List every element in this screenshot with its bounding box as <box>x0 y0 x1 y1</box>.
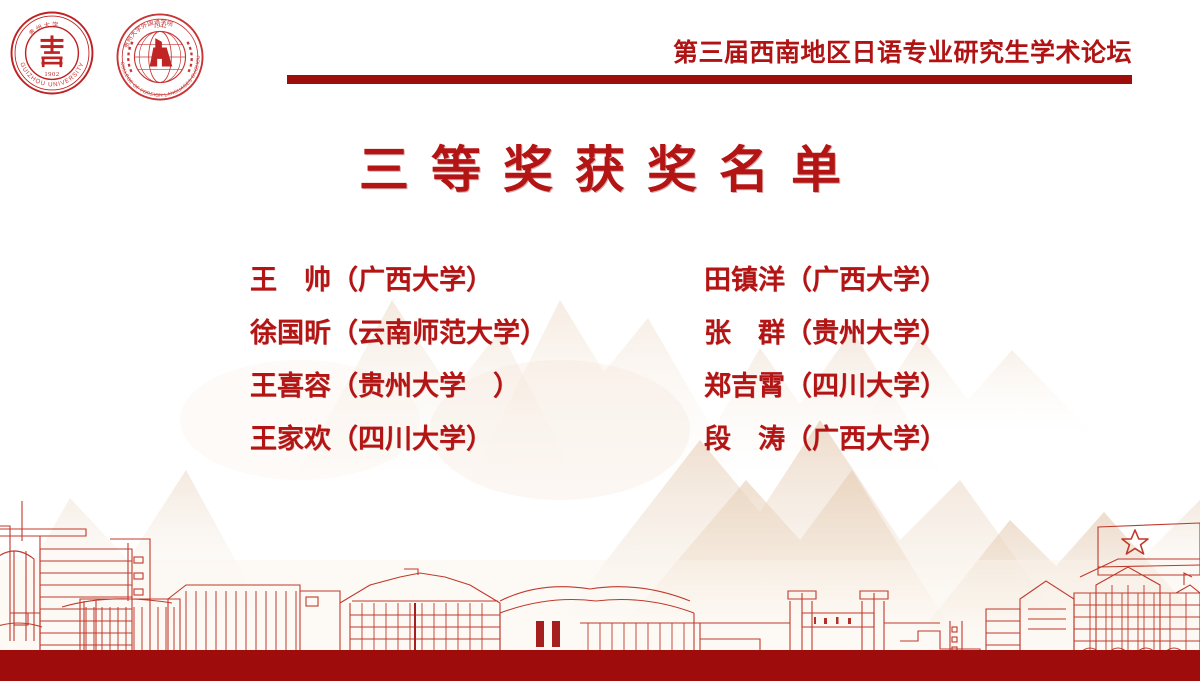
winner-name-left: 王家欢（四川大学） <box>250 419 493 459</box>
svg-text:1902: 1902 <box>44 71 59 78</box>
winner-row: 王家欢（四川大学） 段 涛（广西大学） <box>0 419 1200 472</box>
winners-list: 王 帅（广西大学） 田镇洋（广西大学） 徐国昕（云南师范大学） 张 群（贵州大学… <box>0 260 1200 472</box>
college-of-foreign-languages-logo-icon: 1942 贵州大学外国语学院 COLLEGE OF FOREIGN LANGUA… <box>108 9 212 105</box>
winner-name-right: 段 涛（广西大学） <box>704 419 947 459</box>
slide-third-prize-winners: 1902 贵 州 大 学 GUIZHOU UNIVERSITY <box>0 0 1200 681</box>
svg-text:贵 州 大 学: 贵 州 大 学 <box>27 20 58 37</box>
winner-name-right: 郑吉霄（四川大学） <box>704 366 947 406</box>
winner-name-left: 王 帅（广西大学） <box>250 260 493 300</box>
winner-row: 王喜容（贵州大学 ） 郑吉霄（四川大学） <box>0 366 1200 419</box>
winner-name-right: 张 群（贵州大学） <box>704 313 947 353</box>
star-icon <box>1122 530 1148 554</box>
winner-name-left: 王喜容（贵州大学 ） <box>250 366 520 406</box>
winner-name-right: 田镇洋（广西大学） <box>704 260 947 300</box>
page-title: 三等奖获奖名单 <box>0 140 1200 200</box>
footer-red-bar <box>0 650 1200 681</box>
guizhou-university-logo-icon: 1902 贵 州 大 学 GUIZHOU UNIVERSITY <box>8 9 96 97</box>
slide-header: 1902 贵 州 大 学 GUIZHOU UNIVERSITY <box>0 0 1200 110</box>
header-divider-bar <box>287 75 1132 84</box>
winner-row: 徐国昕（云南师范大学） 张 群（贵州大学） <box>0 313 1200 366</box>
winner-name-left: 徐国昕（云南师范大学） <box>250 313 547 353</box>
conference-title: 第三届西南地区日语专业研究生学术论坛 <box>560 39 1132 69</box>
winner-row: 王 帅（广西大学） 田镇洋（广西大学） <box>0 260 1200 313</box>
page-title-text: 三等奖获奖名单 <box>337 140 863 200</box>
